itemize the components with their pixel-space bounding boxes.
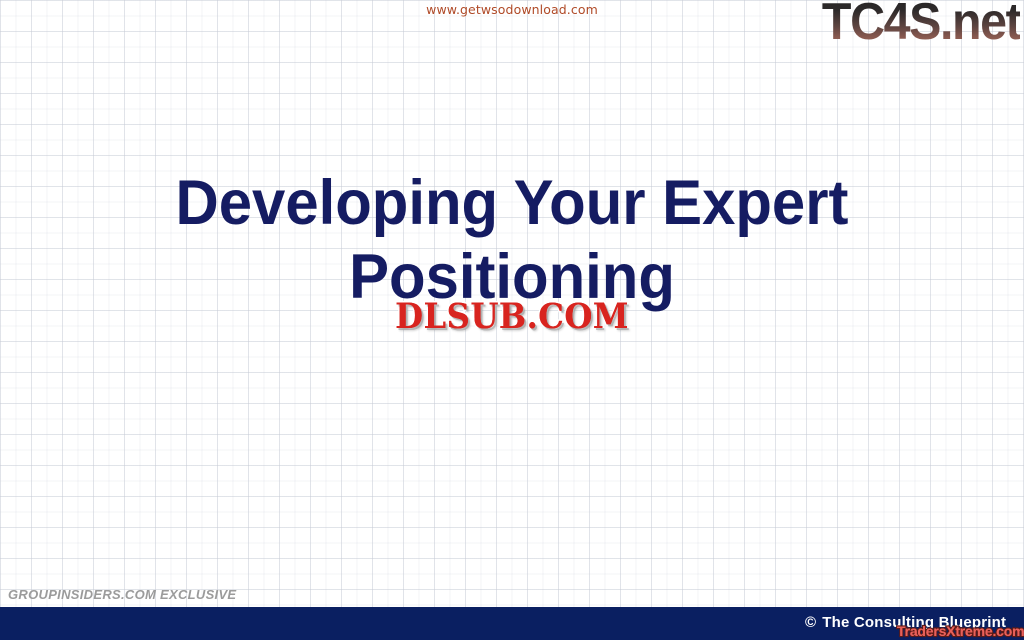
- title-line-one: Developing Your Expert: [26, 166, 999, 240]
- tc4s-logo: TC4S.net: [822, 0, 1020, 48]
- copyright-icon: ©: [805, 614, 816, 631]
- exclusive-note: GROUPINSIDERS.COM EXCLUSIVE: [8, 587, 236, 602]
- tradersxtreme-watermark-fill: TradersXtreme.com: [897, 623, 1024, 639]
- title-line-two: Positioning: [26, 240, 999, 314]
- presentation-slide: www.getwsodownload.com TC4S.net TC4S.net…: [0, 0, 1024, 640]
- page-title: Developing Your Expert Positioning: [0, 166, 1024, 314]
